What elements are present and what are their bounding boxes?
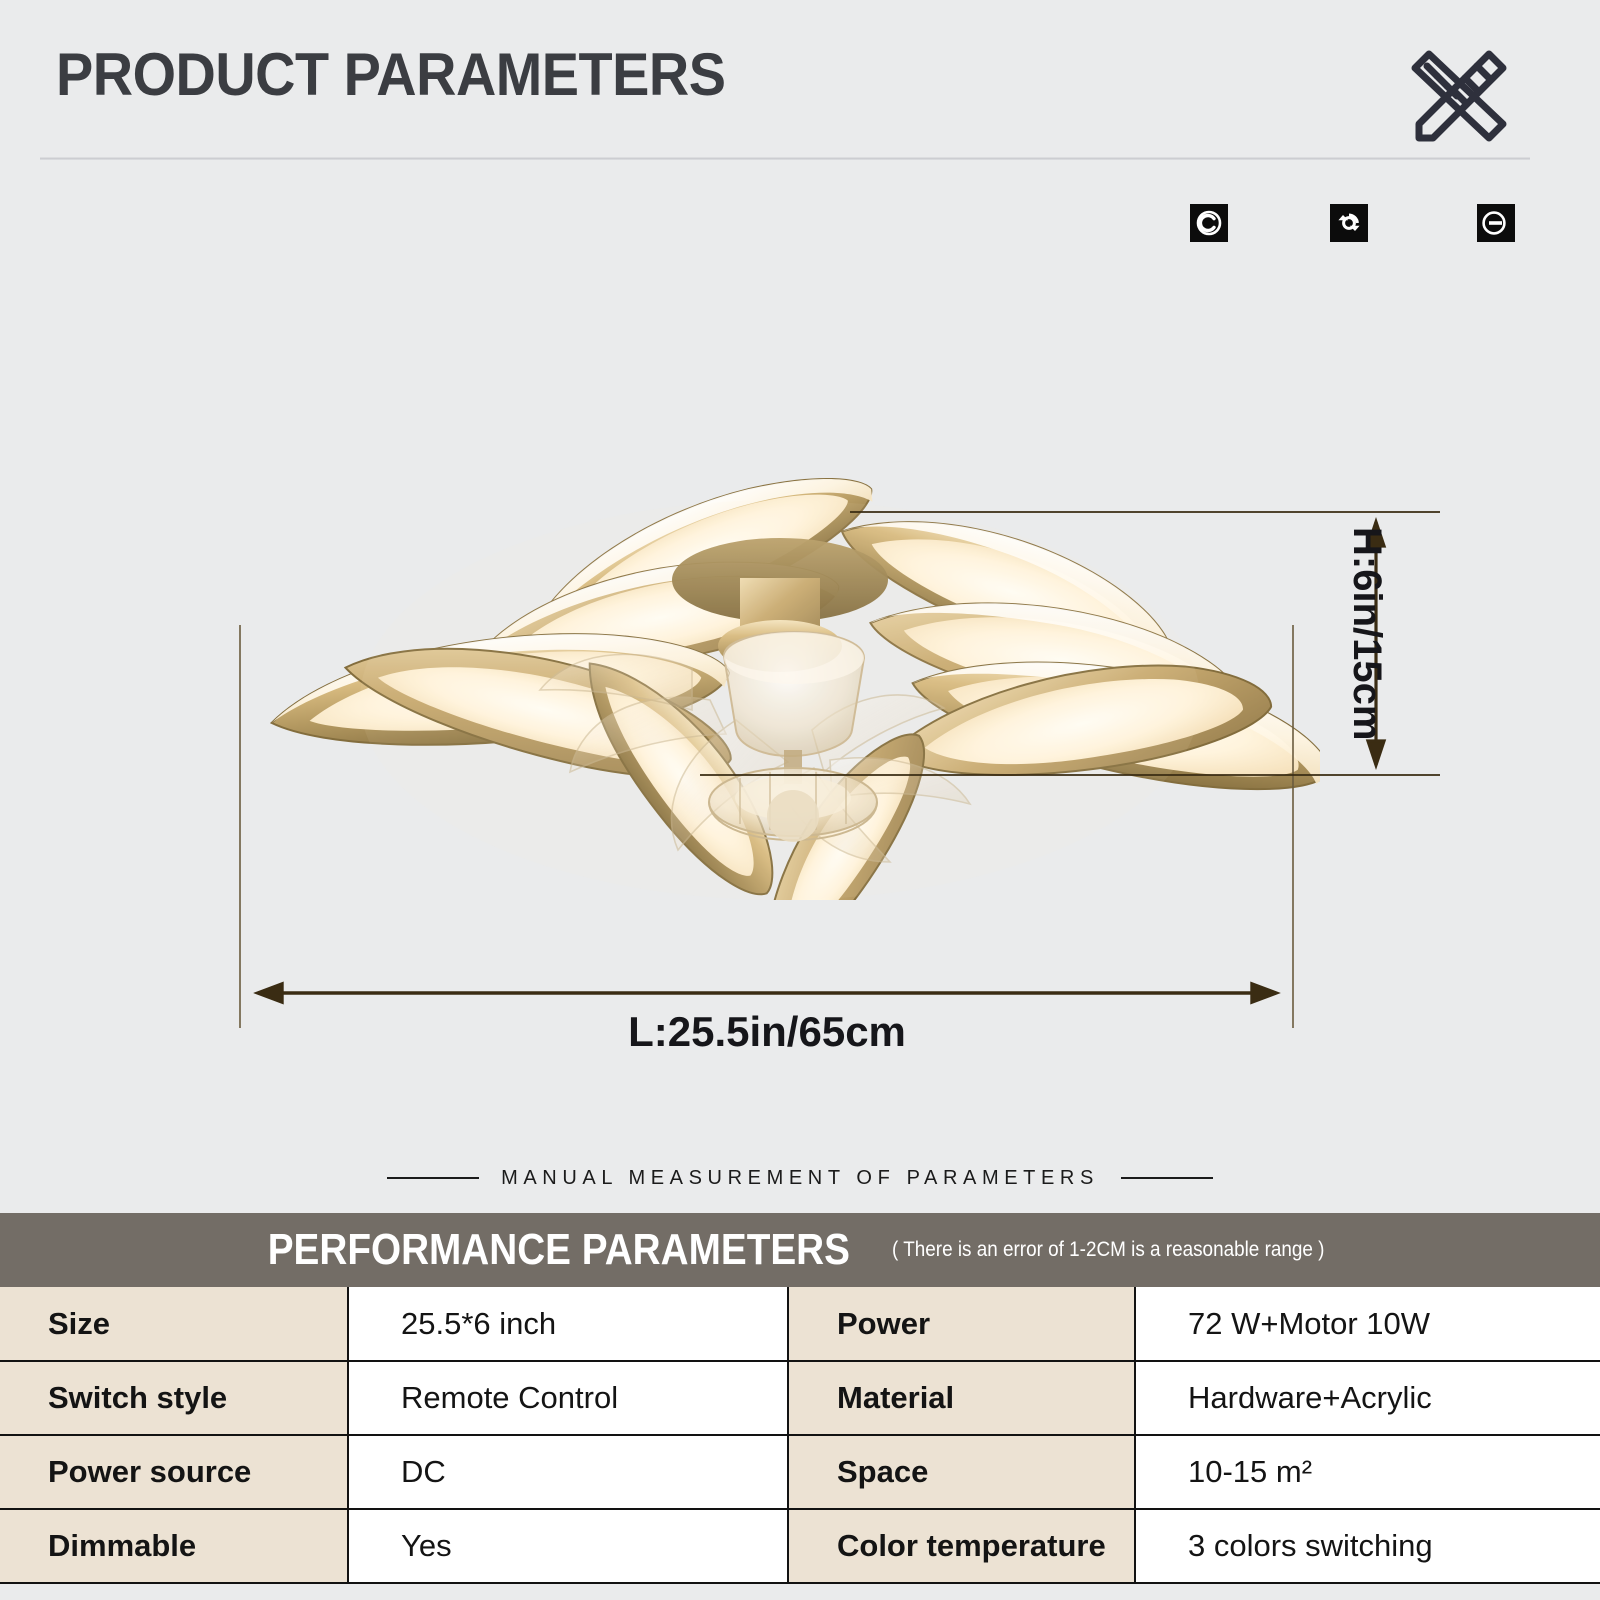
- performance-parameters-bar: PERFORMANCE PARAMETERS ( There is an err…: [0, 1213, 1600, 1287]
- spec-label-color-temperature: Color temperature: [788, 1509, 1135, 1583]
- spec-value-power: 72 W+Motor 10W: [1135, 1287, 1600, 1361]
- spec-label-dimmable: Dimmable: [0, 1509, 348, 1583]
- manual-measurement-divider: MANUAL MEASUREMENT OF PARAMETERS: [0, 1163, 1600, 1193]
- spec-label-power: Power: [788, 1287, 1135, 1361]
- height-dimension-label: H:6in/15cm: [1344, 527, 1389, 740]
- spec-label-space: Space: [788, 1435, 1135, 1509]
- table-row: Size 25.5*6 inch Power 72 W+Motor 10W: [0, 1287, 1600, 1361]
- product-parameters-page: PRODUCT PARAMETERS: [0, 0, 1600, 1600]
- spec-label-switch-style: Switch style: [0, 1361, 348, 1435]
- spec-label-size: Size: [0, 1287, 348, 1361]
- spec-value-space: 10-15 m²: [1135, 1435, 1600, 1509]
- divider-rule-left: [387, 1177, 479, 1179]
- spec-label-power-source: Power source: [0, 1435, 348, 1509]
- spec-value-material: Hardware+Acrylic: [1135, 1361, 1600, 1435]
- page-header: PRODUCT PARAMETERS: [0, 0, 1600, 175]
- spec-value-dimmable: Yes: [348, 1509, 788, 1583]
- header-divider: [40, 157, 1530, 160]
- table-row: Switch style Remote Control Material Har…: [0, 1361, 1600, 1435]
- page-title: PRODUCT PARAMETERS: [56, 40, 726, 109]
- table-row: Dimmable Yes Color temperature 3 colors …: [0, 1509, 1600, 1583]
- spec-table-body: Size 25.5*6 inch Power 72 W+Motor 10W Sw…: [0, 1287, 1600, 1583]
- spec-value-color-temperature: 3 colors switching: [1135, 1509, 1600, 1583]
- table-row: Power source DC Space 10-15 m²: [0, 1435, 1600, 1509]
- spec-value-power-source: DC: [348, 1435, 788, 1509]
- spec-value-size: 25.5*6 inch: [348, 1287, 788, 1361]
- ruler-pencil-icon: [1393, 34, 1509, 146]
- spec-label-material: Material: [788, 1361, 1135, 1435]
- spec-value-switch-style: Remote Control: [348, 1361, 788, 1435]
- performance-parameters-note: ( There is an error of 1-2CM is a reason…: [892, 1238, 1324, 1262]
- length-dimension-label: L:25.5in/65cm: [240, 1008, 1294, 1056]
- performance-parameters-title: PERFORMANCE PARAMETERS: [268, 1225, 850, 1275]
- recycle-badge: [1330, 204, 1368, 242]
- divider-rule-right: [1121, 1177, 1213, 1179]
- performance-parameters-table: Size 25.5*6 inch Power 72 W+Motor 10W Sw…: [0, 1287, 1600, 1584]
- copyright-badge: [1190, 204, 1228, 242]
- manual-measurement-label: MANUAL MEASUREMENT OF PARAMETERS: [501, 1167, 1099, 1190]
- minus-circle-badge: [1477, 204, 1515, 242]
